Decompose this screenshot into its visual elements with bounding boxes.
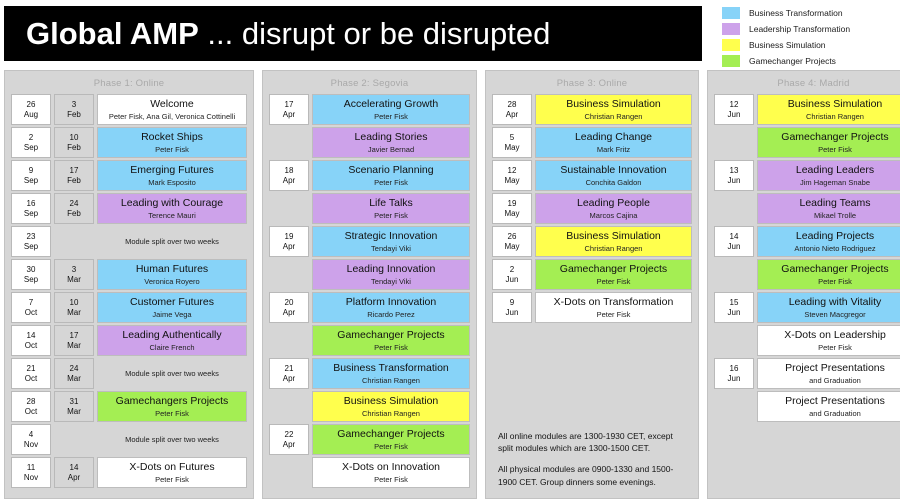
date-cell-secondary: 14Apr (54, 457, 94, 488)
date-cell-secondary: 31Mar (54, 391, 94, 422)
module-presenter: Peter Fisk (818, 343, 852, 352)
date-line: Jun (728, 374, 741, 384)
date-line: 21 (285, 364, 294, 374)
date-line: 14 (730, 232, 739, 242)
phase-rows: 26Aug3FebWelcomePeter Fisk, Ana Gil, Ver… (11, 94, 247, 488)
date-cell-primary: 21Oct (11, 358, 51, 389)
schedule-row: 18AprScenario PlanningPeter Fisk (269, 160, 470, 191)
module-presenter: Christian Rangen (362, 409, 420, 418)
module-title: Gamechanger Projects (337, 329, 444, 341)
module-title: Leading Leaders (796, 164, 874, 176)
module-card[interactable]: Project Presentationsand Graduation (757, 358, 900, 389)
module-title: Scenario Planning (348, 164, 433, 176)
date-cell-secondary (54, 424, 94, 455)
module-card[interactable]: Business SimulationChristian Rangen (757, 94, 900, 125)
module-presenter: and Graduation (809, 376, 861, 385)
module-card[interactable]: Leading ChangeMark Fritz (535, 127, 692, 158)
phase-panel: Phase 1: Online26Aug3FebWelcomePeter Fis… (4, 70, 254, 499)
legend-item: Gamechanger Projects (722, 54, 897, 67)
module-title: X-Dots on Transformation (554, 296, 674, 308)
module-note: Module split over two weeks (125, 369, 219, 378)
date-line: May (504, 209, 519, 219)
date-line: Oct (25, 407, 37, 417)
module-title: Business Transformation (333, 362, 449, 374)
module-card[interactable]: X-Dots on InnovationPeter Fisk (312, 457, 470, 488)
date-line: Feb (67, 209, 81, 219)
schedule-row: Gamechanger ProjectsPeter Fisk (714, 259, 900, 290)
module-presenter: Peter Fisk (374, 112, 408, 121)
date-cell-primary (714, 259, 754, 290)
module-presenter: Marcos Cajina (590, 211, 638, 220)
legend-swatch-icon (722, 55, 740, 67)
module-presenter: Peter Fisk, Ana Gil, Veronica Cottinelli (109, 112, 235, 121)
module-title: Strategic Innovation (345, 230, 438, 242)
schedule-row: 11Nov14AprX-Dots on FuturesPeter Fisk (11, 457, 247, 488)
date-line: Feb (67, 176, 81, 186)
module-card[interactable]: Leading with VitalitySteven Macgregor (757, 292, 900, 323)
module-title: Life Talks (369, 197, 413, 209)
date-line: 26 (508, 232, 517, 242)
legend-item: Business Simulation (722, 38, 897, 51)
date-line: 16 (730, 364, 739, 374)
schedule-row: 12JunBusiness SimulationChristian Rangen (714, 94, 900, 125)
date-line: 18 (285, 166, 294, 176)
module-title: Business Simulation (566, 230, 661, 242)
module-title: Leading with Courage (121, 197, 223, 209)
module-title: Rocket Ships (141, 131, 203, 143)
module-presenter: Tendayi Viki (371, 277, 411, 286)
panel-spacer (714, 422, 900, 492)
date-cell-primary: 5May (492, 127, 532, 158)
date-line: 7 (29, 298, 33, 308)
legend-item: Business Transformation (722, 6, 897, 19)
module-title: Project Presentations (785, 395, 885, 407)
module-title: Customer Futures (130, 296, 214, 308)
module-presenter: Jim Hageman Snabe (800, 178, 870, 187)
module-title: Leading Teams (799, 197, 870, 209)
module-title: Leading with Vitality (789, 296, 882, 308)
module-title: Leading Stories (355, 131, 428, 143)
module-presenter: Peter Fisk (374, 343, 408, 352)
schedule-row: 16JunProject Presentationsand Graduation (714, 358, 900, 389)
date-line: 20 (285, 298, 294, 308)
schedule-row: 19MayLeading PeopleMarcos Cajina (492, 193, 692, 224)
date-cell-primary: 30Sep (11, 259, 51, 290)
schedule-row: 2JunGamechanger ProjectsPeter Fisk (492, 259, 692, 290)
module-card[interactable]: X-Dots on TransformationPeter Fisk (535, 292, 692, 323)
module-card[interactable]: Emerging FuturesMark Esposito (97, 160, 247, 191)
module-title: Leading Authentically (122, 329, 221, 341)
date-line: 16 (27, 199, 36, 209)
module-title: Leading Change (575, 131, 652, 143)
legend-item-label: Business Transformation (749, 8, 843, 18)
module-note: Module split over two weeks (125, 435, 219, 444)
schedule-row: Gamechanger ProjectsPeter Fisk (714, 127, 900, 158)
date-line: 19 (285, 232, 294, 242)
module-title: Business Simulation (788, 98, 883, 110)
schedule-row: 22AprGamechanger ProjectsPeter Fisk (269, 424, 470, 455)
date-cell-primary: 26Aug (11, 94, 51, 125)
schedule-row: 28AprBusiness SimulationChristian Rangen (492, 94, 692, 125)
schedule-row: 13JunLeading LeadersJim Hageman Snabe (714, 160, 900, 191)
date-line: 2 (29, 133, 33, 143)
date-cell-secondary: 3Feb (54, 94, 94, 125)
date-cell-primary: 16Jun (714, 358, 754, 389)
date-cell-secondary: 17Mar (54, 325, 94, 356)
date-line: Apr (283, 176, 295, 186)
module-card[interactable]: Gamechanger ProjectsPeter Fisk (535, 259, 692, 290)
date-line: 5 (510, 133, 514, 143)
schedule-row: 9JunX-Dots on TransformationPeter Fisk (492, 292, 692, 323)
module-presenter: Peter Fisk (818, 145, 852, 154)
date-line: Apr (283, 308, 295, 318)
date-line: Apr (283, 242, 295, 252)
module-card[interactable]: Leading LeadersJim Hageman Snabe (757, 160, 900, 191)
date-line: 3 (72, 100, 76, 110)
timing-note-paragraph: All online modules are 1300-1930 CET, ex… (498, 430, 686, 455)
page-title-bold: Global AMP (26, 16, 199, 51)
date-cell-primary: 17Apr (269, 94, 309, 125)
schedule-row: 5MayLeading ChangeMark Fritz (492, 127, 692, 158)
schedule-row: Gamechanger ProjectsPeter Fisk (269, 325, 470, 356)
module-presenter: Veronica Royero (144, 277, 199, 286)
date-cell-primary (269, 391, 309, 422)
module-title: Human Futures (136, 263, 208, 275)
date-line: Nov (24, 440, 38, 450)
schedule-row: 21AprBusiness TransformationChristian Ra… (269, 358, 470, 389)
module-presenter: and Graduation (809, 409, 861, 418)
module-card: Module split over two weeks (97, 358, 247, 389)
date-cell-secondary: 10Feb (54, 127, 94, 158)
date-line: 9 (510, 298, 514, 308)
date-line: Oct (25, 374, 37, 384)
date-line: Mar (67, 341, 81, 351)
module-note: Module split over two weeks (125, 237, 219, 246)
date-line: Oct (25, 341, 37, 351)
date-cell-primary: 11Nov (11, 457, 51, 488)
phase-title: Phase 2: Segovia (269, 75, 470, 94)
date-line: 23 (27, 232, 36, 242)
date-line: Apr (283, 374, 295, 384)
module-card[interactable]: Business SimulationChristian Rangen (312, 391, 470, 422)
schedule-row: 2Sep10FebRocket ShipsPeter Fisk (11, 127, 247, 158)
date-cell-primary: 21Apr (269, 358, 309, 389)
module-title: Leading Projects (796, 230, 874, 242)
date-cell-primary: 9Sep (11, 160, 51, 191)
date-cell-secondary: 3Mar (54, 259, 94, 290)
date-line: Mar (67, 407, 81, 417)
module-title: Gamechanger Projects (781, 131, 888, 143)
phase-panel: Phase 4: Madrid12JunBusiness SimulationC… (707, 70, 900, 499)
date-cell-secondary: 24Feb (54, 193, 94, 224)
module-title: Business Simulation (566, 98, 661, 110)
date-cell-primary: 7Oct (11, 292, 51, 323)
module-presenter: Mark Esposito (148, 178, 196, 187)
phase-panel: Phase 2: Segovia17AprAccelerating Growth… (262, 70, 477, 499)
date-line: Apr (283, 440, 295, 450)
module-title: Leading People (577, 197, 650, 209)
module-card: Module split over two weeks (97, 226, 247, 257)
title-banner: Global AMP ... disrupt or be disrupted (4, 6, 702, 61)
module-card[interactable]: Leading ProjectsAntonio Nieto Rodriguez (757, 226, 900, 257)
module-title: Leading Innovation (347, 263, 436, 275)
module-title: X-Dots on Leadership (784, 329, 886, 341)
module-card[interactable]: X-Dots on FuturesPeter Fisk (97, 457, 247, 488)
date-cell-primary: 2Jun (492, 259, 532, 290)
module-card[interactable]: Leading with CourageTerence Mauri (97, 193, 247, 224)
module-card[interactable]: Business SimulationChristian Rangen (535, 94, 692, 125)
date-line: Sep (24, 242, 38, 252)
module-card[interactable]: Leading AuthenticallyClaire French (97, 325, 247, 356)
module-card[interactable]: WelcomePeter Fisk, Ana Gil, Veronica Cot… (97, 94, 247, 125)
date-line: May (504, 176, 519, 186)
module-card: Module split over two weeks (97, 424, 247, 455)
date-cell-primary (714, 325, 754, 356)
date-cell-secondary: 17Feb (54, 160, 94, 191)
schedule-row: 14Oct17MarLeading AuthenticallyClaire Fr… (11, 325, 247, 356)
date-line: Jun (506, 275, 519, 285)
module-card[interactable]: Life TalksPeter Fisk (312, 193, 470, 224)
date-cell-secondary: 10Mar (54, 292, 94, 323)
date-line: May (504, 242, 519, 252)
date-line: 13 (730, 166, 739, 176)
date-line: 10 (70, 298, 79, 308)
module-presenter: Christian Rangen (585, 244, 643, 253)
date-cell-primary: 2Sep (11, 127, 51, 158)
date-line: 12 (730, 100, 739, 110)
date-cell-primary (714, 127, 754, 158)
legend-item: Leadership Transformation (722, 22, 897, 35)
schedule-row: 21Oct24MarModule split over two weeks (11, 358, 247, 389)
module-presenter: Christian Rangen (585, 112, 643, 121)
date-line: 17 (285, 100, 294, 110)
date-line: 15 (730, 298, 739, 308)
phase-panel: Phase 3: Online28AprBusiness SimulationC… (485, 70, 699, 499)
schedule-row: Business SimulationChristian Rangen (269, 391, 470, 422)
date-line: 30 (27, 265, 36, 275)
module-presenter: Mikael Trolle (814, 211, 856, 220)
schedule-row: 28Oct31MarGamechangers ProjectsPeter Fis… (11, 391, 247, 422)
date-line: Mar (67, 308, 81, 318)
schedule-row: Leading InnovationTendayi Viki (269, 259, 470, 290)
module-card[interactable]: Leading StoriesJavier Bernad (312, 127, 470, 158)
timing-notes: All online modules are 1300-1930 CET, ex… (492, 424, 692, 492)
module-presenter: Antonio Nieto Rodriguez (794, 244, 875, 253)
date-line: 26 (27, 100, 36, 110)
schedule-row: 20AprPlatform InnovationRicardo Perez (269, 292, 470, 323)
schedule-row: 15JunLeading with VitalitySteven Macgreg… (714, 292, 900, 323)
phase-rows: 17AprAccelerating GrowthPeter FiskLeadin… (269, 94, 470, 488)
date-line: Mar (67, 374, 81, 384)
date-cell-primary: 9Jun (492, 292, 532, 323)
schedule-row: 7Oct10MarCustomer FuturesJaime Vega (11, 292, 247, 323)
module-title: Gamechanger Projects (560, 263, 667, 275)
date-line: Sep (24, 275, 38, 285)
phase-title: Phase 4: Madrid (714, 75, 900, 94)
module-presenter: Peter Fisk (374, 442, 408, 451)
module-title: X-Dots on Futures (129, 461, 214, 473)
date-line: Jun (728, 176, 741, 186)
date-cell-primary: 14Oct (11, 325, 51, 356)
phase-rows: 28AprBusiness SimulationChristian Rangen… (492, 94, 692, 323)
date-line: Feb (67, 143, 81, 153)
schedule-row: Leading StoriesJavier Bernad (269, 127, 470, 158)
module-card[interactable]: Strategic InnovationTendayi Viki (312, 226, 470, 257)
legend-swatch-icon (722, 7, 740, 19)
date-line: 21 (27, 364, 36, 374)
module-card[interactable]: Sustainable InnovationConchita Galdon (535, 160, 692, 191)
module-card[interactable]: Scenario PlanningPeter Fisk (312, 160, 470, 191)
date-cell-primary: 14Jun (714, 226, 754, 257)
page-title: Global AMP ... disrupt or be disrupted (4, 18, 550, 49)
legend-item-label: Gamechanger Projects (749, 56, 836, 66)
date-line: Jun (506, 308, 519, 318)
date-cell-primary: 19May (492, 193, 532, 224)
legend-item-label: Leadership Transformation (749, 24, 850, 34)
module-presenter: Conchita Galdon (586, 178, 642, 187)
date-cell-primary (269, 259, 309, 290)
date-cell-primary (269, 193, 309, 224)
date-cell-primary: 28Apr (492, 94, 532, 125)
schedule-row: X-Dots on InnovationPeter Fisk (269, 457, 470, 488)
module-title: Business Simulation (344, 395, 439, 407)
module-card[interactable]: Platform InnovationRicardo Perez (312, 292, 470, 323)
date-line: Oct (25, 308, 37, 318)
date-line: 28 (508, 100, 517, 110)
schedule-row: Project Presentationsand Graduation (714, 391, 900, 422)
module-card[interactable]: Gamechanger ProjectsPeter Fisk (757, 259, 900, 290)
schedule-row: X-Dots on LeadershipPeter Fisk (714, 325, 900, 356)
date-cell-secondary: 24Mar (54, 358, 94, 389)
date-line: Feb (67, 110, 81, 120)
legend-swatch-icon (722, 39, 740, 51)
module-card[interactable]: Customer FuturesJaime Vega (97, 292, 247, 323)
date-cell-primary (269, 127, 309, 158)
date-line: 14 (27, 331, 36, 341)
timing-note-paragraph: All physical modules are 0900-1330 and 1… (498, 463, 686, 488)
module-card[interactable]: X-Dots on LeadershipPeter Fisk (757, 325, 900, 356)
module-card[interactable]: Project Presentationsand Graduation (757, 391, 900, 422)
date-cell-primary (269, 457, 309, 488)
date-line: 24 (70, 199, 79, 209)
module-title: Gamechanger Projects (337, 428, 444, 440)
date-line: 10 (70, 133, 79, 143)
module-card[interactable]: Leading TeamsMikael Trolle (757, 193, 900, 224)
schedule-row: 12MaySustainable InnovationConchita Gald… (492, 160, 692, 191)
date-line: 17 (70, 331, 79, 341)
date-line: 22 (285, 430, 294, 440)
panel-spacer (492, 323, 692, 424)
module-presenter: Christian Rangen (806, 112, 864, 121)
schedule-row: 30Sep3MarHuman FuturesVeronica Royero (11, 259, 247, 290)
legend-swatch-icon (722, 23, 740, 35)
module-presenter: Peter Fisk (155, 409, 189, 418)
module-card[interactable]: Rocket ShipsPeter Fisk (97, 127, 247, 158)
date-cell-primary: 15Jun (714, 292, 754, 323)
date-cell-secondary (54, 226, 94, 257)
module-title: Accelerating Growth (344, 98, 439, 110)
module-presenter: Ricardo Perez (367, 310, 415, 319)
module-card[interactable]: Human FuturesVeronica Royero (97, 259, 247, 290)
module-presenter: Mark Fritz (597, 145, 630, 154)
date-line: 4 (29, 430, 33, 440)
date-line: Sep (24, 176, 38, 186)
module-presenter: Peter Fisk (374, 475, 408, 484)
module-card[interactable]: Gamechanger ProjectsPeter Fisk (312, 325, 470, 356)
date-line: May (504, 143, 519, 153)
module-title: X-Dots on Innovation (342, 461, 440, 473)
module-presenter: Tendayi Viki (371, 244, 411, 253)
module-title: Sustainable Innovation (560, 164, 666, 176)
date-cell-primary (714, 193, 754, 224)
module-presenter: Peter Fisk (597, 310, 631, 319)
date-line: 9 (29, 166, 33, 176)
schedule-row: Life TalksPeter Fisk (269, 193, 470, 224)
module-presenter: Peter Fisk (155, 475, 189, 484)
module-card[interactable]: Business TransformationChristian Rangen (312, 358, 470, 389)
module-card[interactable]: Leading PeopleMarcos Cajina (535, 193, 692, 224)
date-line: Mar (67, 275, 81, 285)
date-line: Apr (506, 110, 518, 120)
date-line: 31 (70, 397, 79, 407)
date-line: 28 (27, 397, 36, 407)
date-line: 19 (508, 199, 517, 209)
module-card[interactable]: Business SimulationChristian Rangen (535, 226, 692, 257)
module-card[interactable]: Gamechangers ProjectsPeter Fisk (97, 391, 247, 422)
legend-item-label: Business Simulation (749, 40, 826, 50)
phase-title: Phase 3: Online (492, 75, 692, 94)
schedule-row: 26Aug3FebWelcomePeter Fisk, Ana Gil, Ver… (11, 94, 247, 125)
phase-rows: 12JunBusiness SimulationChristian Rangen… (714, 94, 900, 422)
date-line: 11 (27, 463, 35, 473)
schedule-row: 14JunLeading ProjectsAntonio Nieto Rodri… (714, 226, 900, 257)
date-line: Jun (728, 110, 741, 120)
schedule-row: 17AprAccelerating GrowthPeter Fisk (269, 94, 470, 125)
module-presenter: Claire French (149, 343, 194, 352)
schedule-row: 16Sep24FebLeading with CourageTerence Ma… (11, 193, 247, 224)
date-line: Sep (24, 209, 38, 219)
module-card[interactable]: Gamechanger ProjectsPeter Fisk (757, 127, 900, 158)
module-presenter: Jaime Vega (152, 310, 191, 319)
date-cell-primary: 20Apr (269, 292, 309, 323)
module-card[interactable]: Leading InnovationTendayi Viki (312, 259, 470, 290)
phases-board: Phase 1: Online26Aug3FebWelcomePeter Fis… (0, 68, 900, 501)
phase-title: Phase 1: Online (11, 75, 247, 94)
schedule-row: 26MayBusiness SimulationChristian Rangen (492, 226, 692, 257)
legend: Business TransformationLeadership Transf… (722, 6, 897, 67)
date-cell-primary: 22Apr (269, 424, 309, 455)
module-presenter: Peter Fisk (597, 277, 631, 286)
module-card[interactable]: Accelerating GrowthPeter Fisk (312, 94, 470, 125)
module-presenter: Steven Macgregor (804, 310, 865, 319)
date-cell-primary (269, 325, 309, 356)
module-presenter: Peter Fisk (818, 277, 852, 286)
date-line: 2 (510, 265, 514, 275)
date-line: Sep (24, 143, 38, 153)
date-line: 3 (72, 265, 76, 275)
date-line: 14 (70, 463, 79, 473)
module-card[interactable]: Gamechanger ProjectsPeter Fisk (312, 424, 470, 455)
module-presenter: Terence Mauri (148, 211, 196, 220)
date-line: 17 (70, 166, 79, 176)
date-cell-primary: 23Sep (11, 226, 51, 257)
module-presenter: Javier Bernad (368, 145, 414, 154)
date-line: Jun (728, 242, 741, 252)
panel-spacer (11, 488, 247, 492)
date-cell-primary: 28Oct (11, 391, 51, 422)
schedule-row: 19AprStrategic InnovationTendayi Viki (269, 226, 470, 257)
date-cell-primary: 12May (492, 160, 532, 191)
